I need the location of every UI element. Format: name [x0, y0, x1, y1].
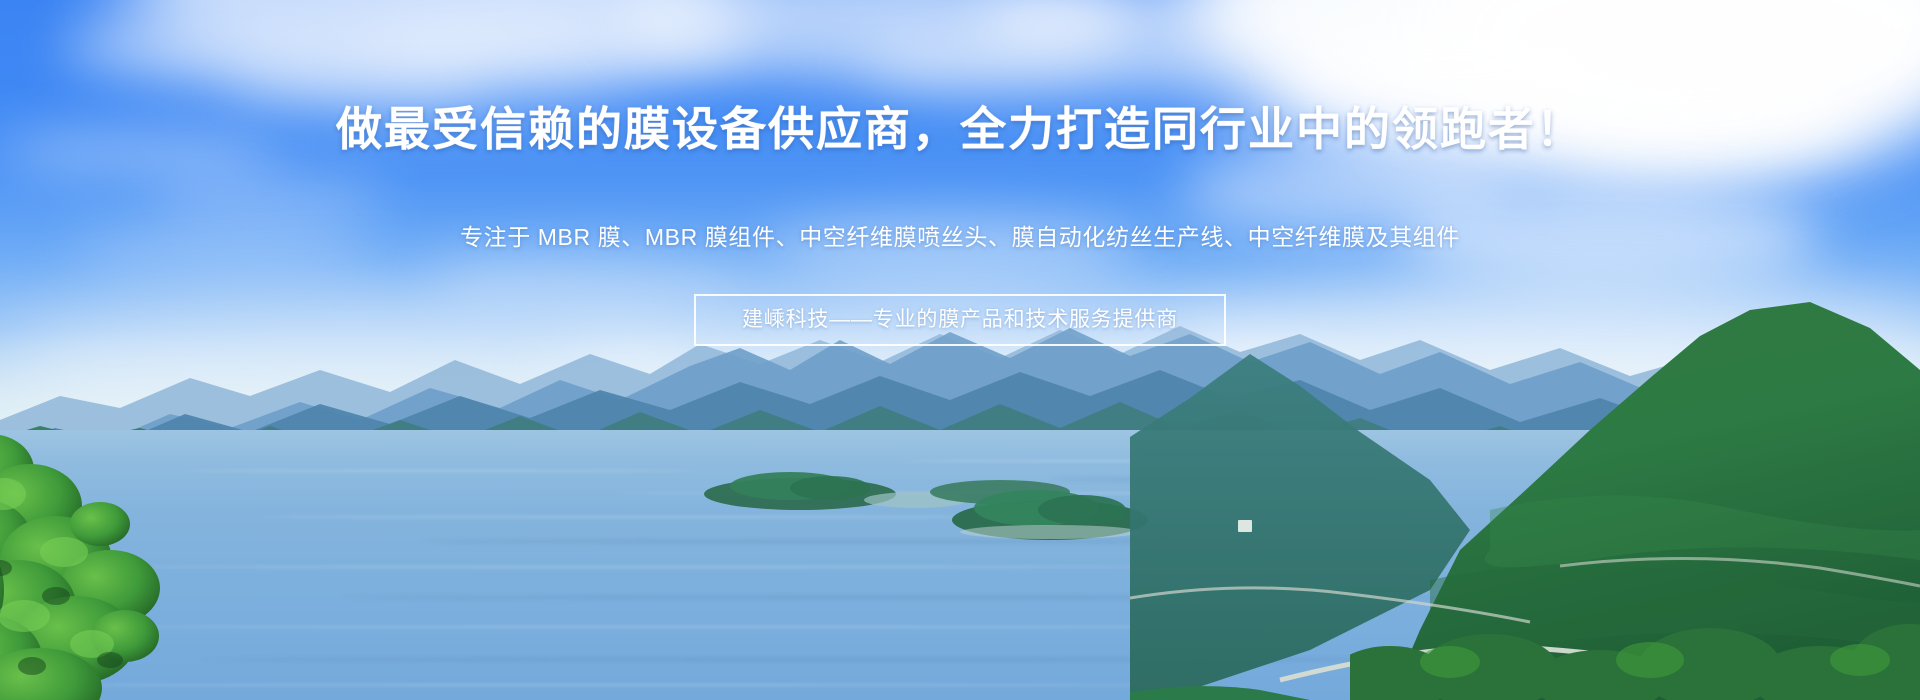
- banner-subtitle: 专注于 MBR 膜、MBR 膜组件、中空纤维膜喷丝头、膜自动化纺丝生产线、中空纤…: [0, 222, 1920, 252]
- banner-headline: 做最受信赖的膜设备供应商，全力打造同行业中的领跑者！: [0, 103, 1920, 155]
- hero-banner: 做最受信赖的膜设备供应商，全力打造同行业中的领跑者！ 专注于 MBR 膜、MBR…: [0, 0, 1920, 700]
- banner-text-block: 做最受信赖的膜设备供应商，全力打造同行业中的领跑者！ 专注于 MBR 膜、MBR…: [0, 0, 1920, 700]
- banner-tagline-box[interactable]: 建嵊科技——专业的膜产品和技术服务提供商: [694, 294, 1226, 346]
